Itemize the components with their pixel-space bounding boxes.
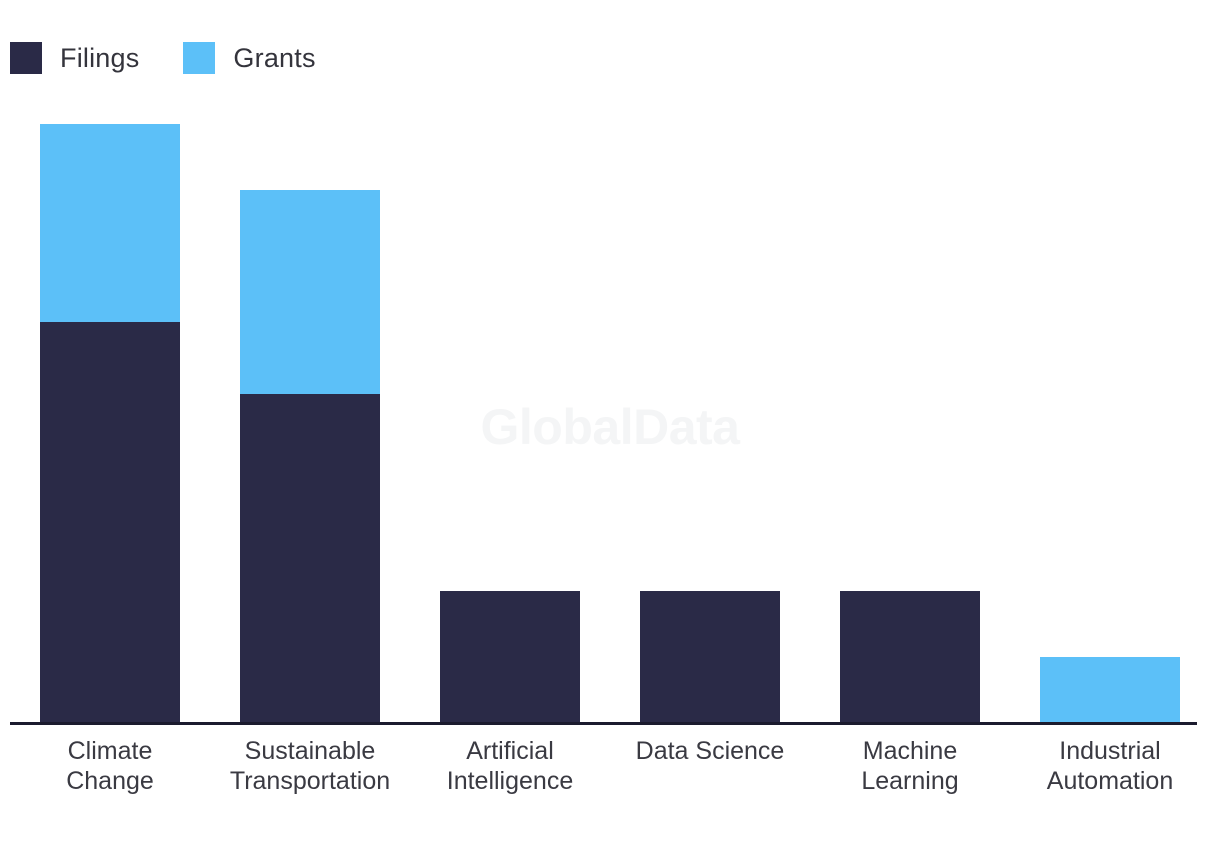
bar-segment-filings[interactable] [40,322,180,723]
bar-group[interactable] [240,190,380,723]
bar-chart: Filings Grants GlobalData ClimateChangeS… [0,0,1220,850]
x-axis-label: IndustrialAutomation [1000,736,1220,796]
x-axis-label-line: Learning [800,766,1020,796]
x-axis-label-line: Sustainable [200,736,420,766]
x-axis-label-line: Climate [0,736,220,766]
bar-group[interactable] [1040,657,1180,723]
x-axis-label: MachineLearning [800,736,1020,796]
x-axis-label-line: Artificial [400,736,620,766]
x-axis-label-line: Machine [800,736,1020,766]
x-axis-label-line: Industrial [1000,736,1220,766]
bar-segment-filings[interactable] [840,591,980,723]
bar-group[interactable] [640,591,780,723]
bar-segment-filings[interactable] [640,591,780,723]
plot-area [0,0,1220,723]
bar-group[interactable] [40,124,180,723]
x-axis-label: SustainableTransportation [200,736,420,796]
bar-segment-grants[interactable] [240,190,380,394]
x-axis-label-line: Transportation [200,766,420,796]
x-axis-label-line: Data Science [600,736,820,766]
x-axis-label-line: Intelligence [400,766,620,796]
x-axis-label: ClimateChange [0,736,220,796]
bar-group[interactable] [440,591,580,723]
bar-segment-grants[interactable] [1040,657,1180,723]
bar-segment-filings[interactable] [440,591,580,723]
x-axis-label: ArtificialIntelligence [400,736,620,796]
x-axis-labels: ClimateChangeSustainableTransportationAr… [0,736,1220,816]
x-axis-label-line: Automation [1000,766,1220,796]
x-axis-line [10,722,1197,725]
bar-segment-grants[interactable] [40,124,180,322]
bar-segment-filings[interactable] [240,394,380,723]
bar-group[interactable] [840,591,980,723]
x-axis-label-line: Change [0,766,220,796]
x-axis-label: Data Science [600,736,820,766]
